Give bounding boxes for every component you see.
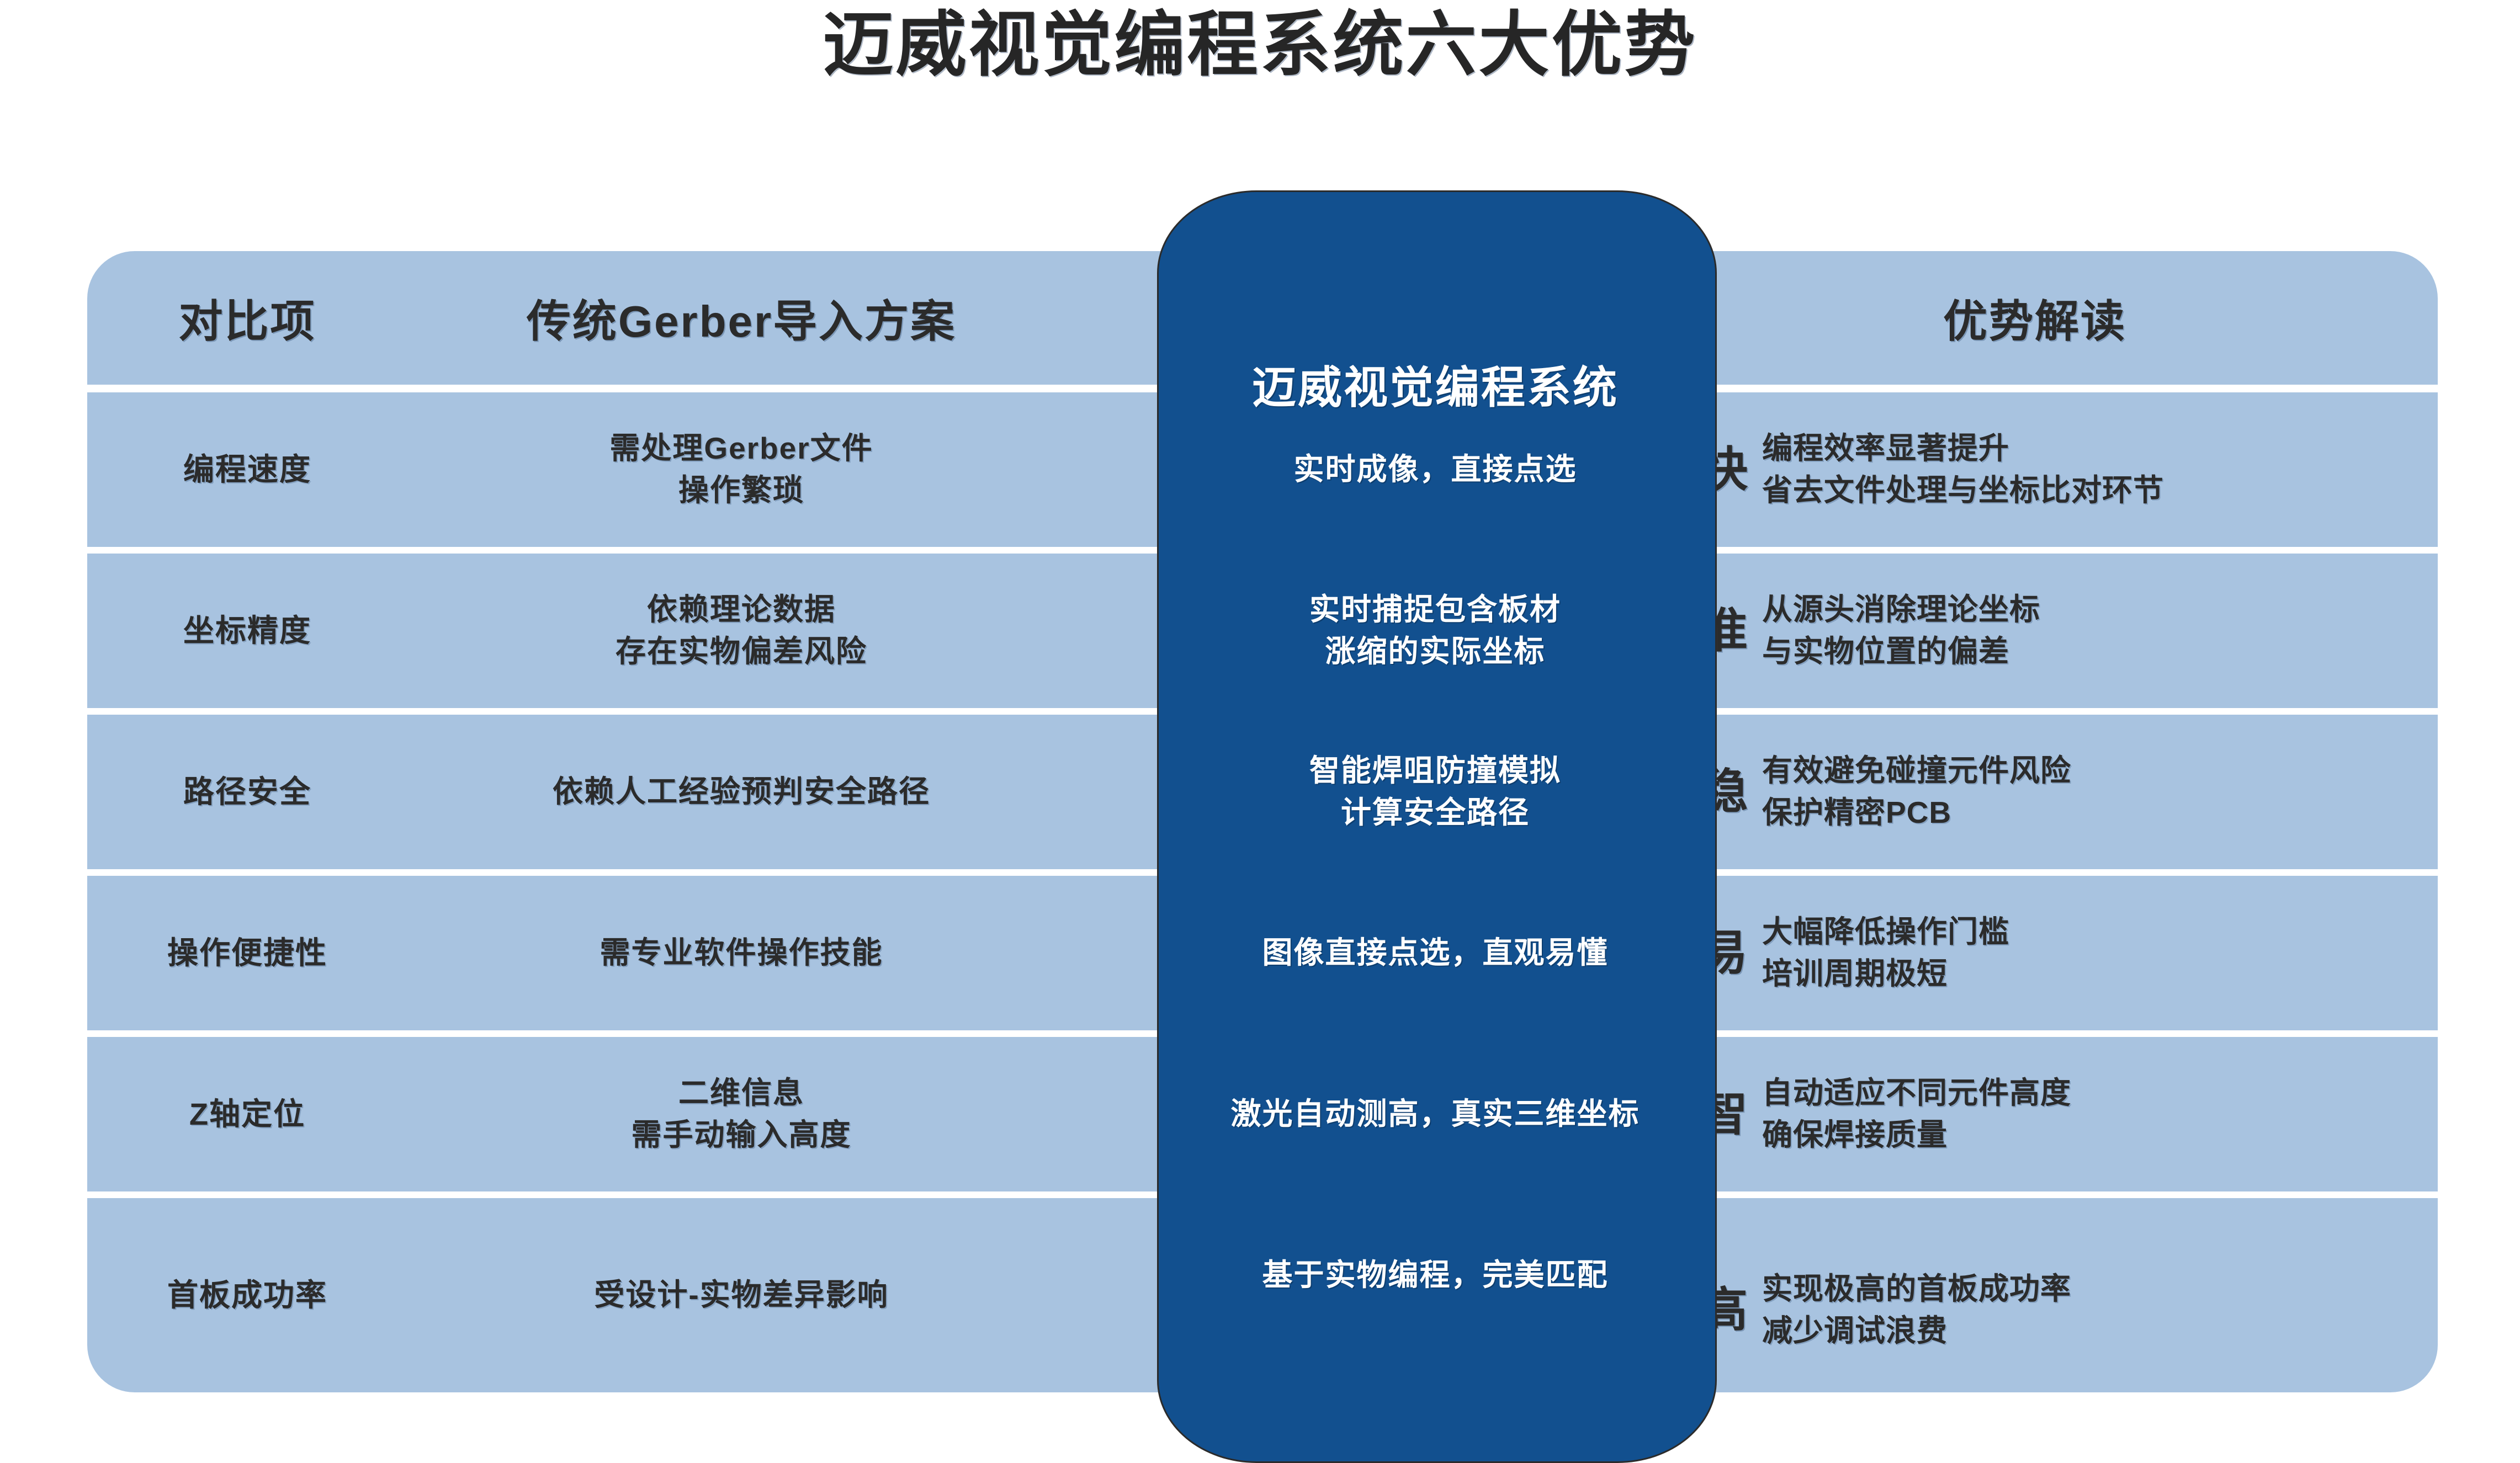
cell-item: 坐标精度 [87,609,407,652]
traditional-line: 存在实物偏差风险 [407,631,1075,673]
advantage-line: 实现极高的首板成功率 [1762,1268,2071,1310]
table-row: 首板成功率 受设计-实物差异影响 高 实现极高的首板成功率 减少调试浪费 [87,1198,2438,1392]
traditional-line: 依赖人工经验预判安全路径 [407,771,1075,813]
cell-traditional: 需专业软件操作技能 [407,932,1075,974]
traditional-line: 需处理Gerber文件 [407,428,1075,470]
checkbox-checked-icon [1664,453,1697,486]
table-row: Z轴定位 二维信息 需手动输入高度 智 自动适应不同元件高度 确保焊接质量 [87,1037,2438,1191]
table-row: 操作便捷性 需专业软件操作技能 易 大幅降低操作门槛 培训周期极短 [87,876,2438,1030]
advantage-char: 高 [1700,1286,1748,1334]
traditional-line: 需专业软件操作技能 [407,932,1075,974]
cell-traditional: 依赖理论数据 存在实物偏差风险 [407,589,1075,673]
checkbox-checked-icon [1664,614,1697,647]
row-item-label: 首板成功率 [87,1274,407,1316]
advantage-line: 编程效率显著提升 [1762,428,2164,470]
cell-traditional: 需处理Gerber文件 操作繁琐 [407,428,1075,512]
comparison-table: 对比项 传统Gerber导入方案 优势解读 编程速度 需处理Gerber文件 操… [87,251,2438,1393]
cell-advantage: 高 实现极高的首板成功率 减少调试浪费 [1632,1238,2438,1352]
advantage-line: 大幅降低操作门槛 [1762,911,2009,953]
table-header-row: 对比项 传统Gerber导入方案 优势解读 [87,251,2438,385]
cell-traditional: 依赖人工经验预判安全路径 [407,771,1075,813]
advantage-line: 省去文件处理与坐标比对环节 [1762,470,2164,512]
advantage-line: 培训周期极短 [1762,953,2009,995]
checkbox-checked-icon [1664,775,1697,808]
cell-advantage: 智 自动适应不同元件高度 确保焊接质量 [1632,1072,2438,1156]
row-item-label: 编程速度 [87,448,407,491]
traditional-line: 受设计-实物差异影响 [407,1274,1075,1316]
traditional-line: 依赖理论数据 [407,589,1075,631]
header-label-item: 对比项 [179,297,316,346]
cell-traditional: 受设计-实物差异影响 [407,1274,1075,1316]
header-cell-traditional: 传统Gerber导入方案 [407,286,1075,350]
header-cell-item: 对比项 [87,286,407,350]
advantage-char: 智 [1700,1090,1748,1138]
advantage-badge: 稳 [1664,768,1748,816]
advantage-line: 自动适应不同元件高度 [1762,1072,2071,1114]
advantage-line: 从源头消除理论坐标 [1762,589,2040,631]
advantage-char: 稳 [1700,768,1748,816]
row-item-label: 坐标精度 [87,609,407,652]
page-title: 迈威视觉编程系统六大优势 [0,4,2520,86]
header-label-traditional: 传统Gerber导入方案 [527,297,956,346]
traditional-line: 需手动输入高度 [407,1114,1075,1156]
cell-advantage: 准 从源头消除理论坐标 与实物位置的偏差 [1632,589,2438,673]
row-item-label: 路径安全 [87,770,407,813]
checkbox-checked-icon [1664,1294,1697,1327]
advantage-line: 有效避免碰撞元件风险 [1762,750,2071,792]
header-label-advantage: 优势解读 [1943,286,2126,350]
advantage-line: 与实物位置的偏差 [1762,631,2040,673]
header-cell-advantage: 优势解读 [1632,286,2438,350]
cell-item: 首板成功率 [87,1274,407,1316]
advantage-line: 保护精密PCB [1762,792,2071,834]
traditional-line: 二维信息 [407,1072,1075,1114]
cell-traditional: 二维信息 需手动输入高度 [407,1072,1075,1156]
advantage-badge: 智 [1664,1090,1748,1138]
cell-item: 编程速度 [87,448,407,491]
advantage-char: 快 [1700,446,1748,493]
cell-advantage: 快 编程效率显著提升 省去文件处理与坐标比对环节 [1632,428,2438,512]
row-item-label: Z轴定位 [87,1093,407,1135]
advantage-badge: 易 [1664,929,1748,977]
advantage-line: 减少调试浪费 [1762,1310,2071,1352]
checkbox-checked-icon [1664,937,1697,970]
cell-advantage: 稳 有效避免碰撞元件风险 保护精密PCB [1632,750,2438,834]
traditional-line: 操作繁琐 [407,470,1075,512]
cell-item: 操作便捷性 [87,932,407,974]
advantage-char: 易 [1700,929,1748,977]
cell-item: 路径安全 [87,770,407,813]
advantage-badge: 准 [1664,607,1748,655]
table-row: 路径安全 依赖人工经验预判安全路径 稳 有效避免碰撞元件风险 保护精密PCB [87,715,2438,869]
checkbox-checked-icon [1664,1098,1697,1131]
advantage-char: 准 [1700,607,1748,655]
table-row: 编程速度 需处理Gerber文件 操作繁琐 快 编程效率显著提升 省去文件处理与… [87,392,2438,547]
cell-advantage: 易 大幅降低操作门槛 培训周期极短 [1632,911,2438,995]
cell-item: Z轴定位 [87,1093,407,1135]
advantage-badge: 快 [1664,446,1748,493]
advantage-line: 确保焊接质量 [1762,1114,2071,1156]
advantage-badge: 高 [1664,1286,1748,1334]
table-row: 坐标精度 依赖理论数据 存在实物偏差风险 准 从源头消除理论坐标 与实物位置的偏… [87,554,2438,708]
row-item-label: 操作便捷性 [87,932,407,974]
